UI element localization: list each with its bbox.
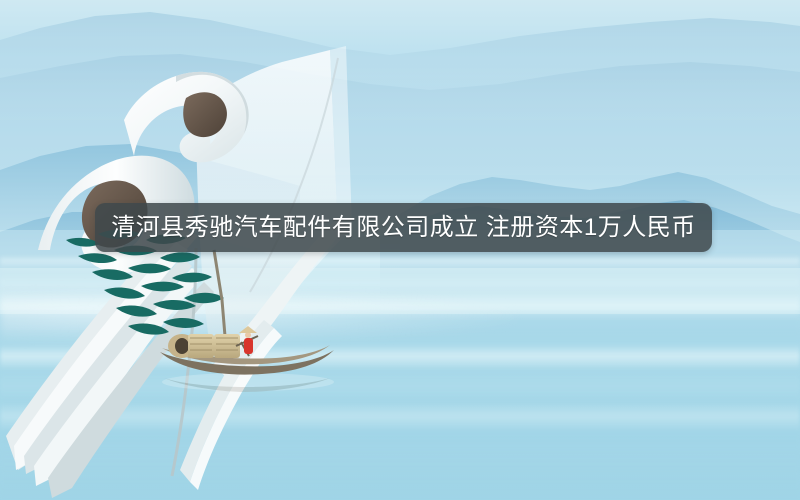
water-sheen — [0, 285, 520, 345]
title-banner: 清河县秀驰汽车配件有限公司成立 注册资本1万人民币 — [95, 203, 712, 252]
article-cover: 清河县秀驰汽车配件有限公司成立 注册资本1万人民币 — [0, 0, 800, 500]
page-title: 清河县秀驰汽车配件有限公司成立 注册资本1万人民币 — [111, 216, 696, 240]
